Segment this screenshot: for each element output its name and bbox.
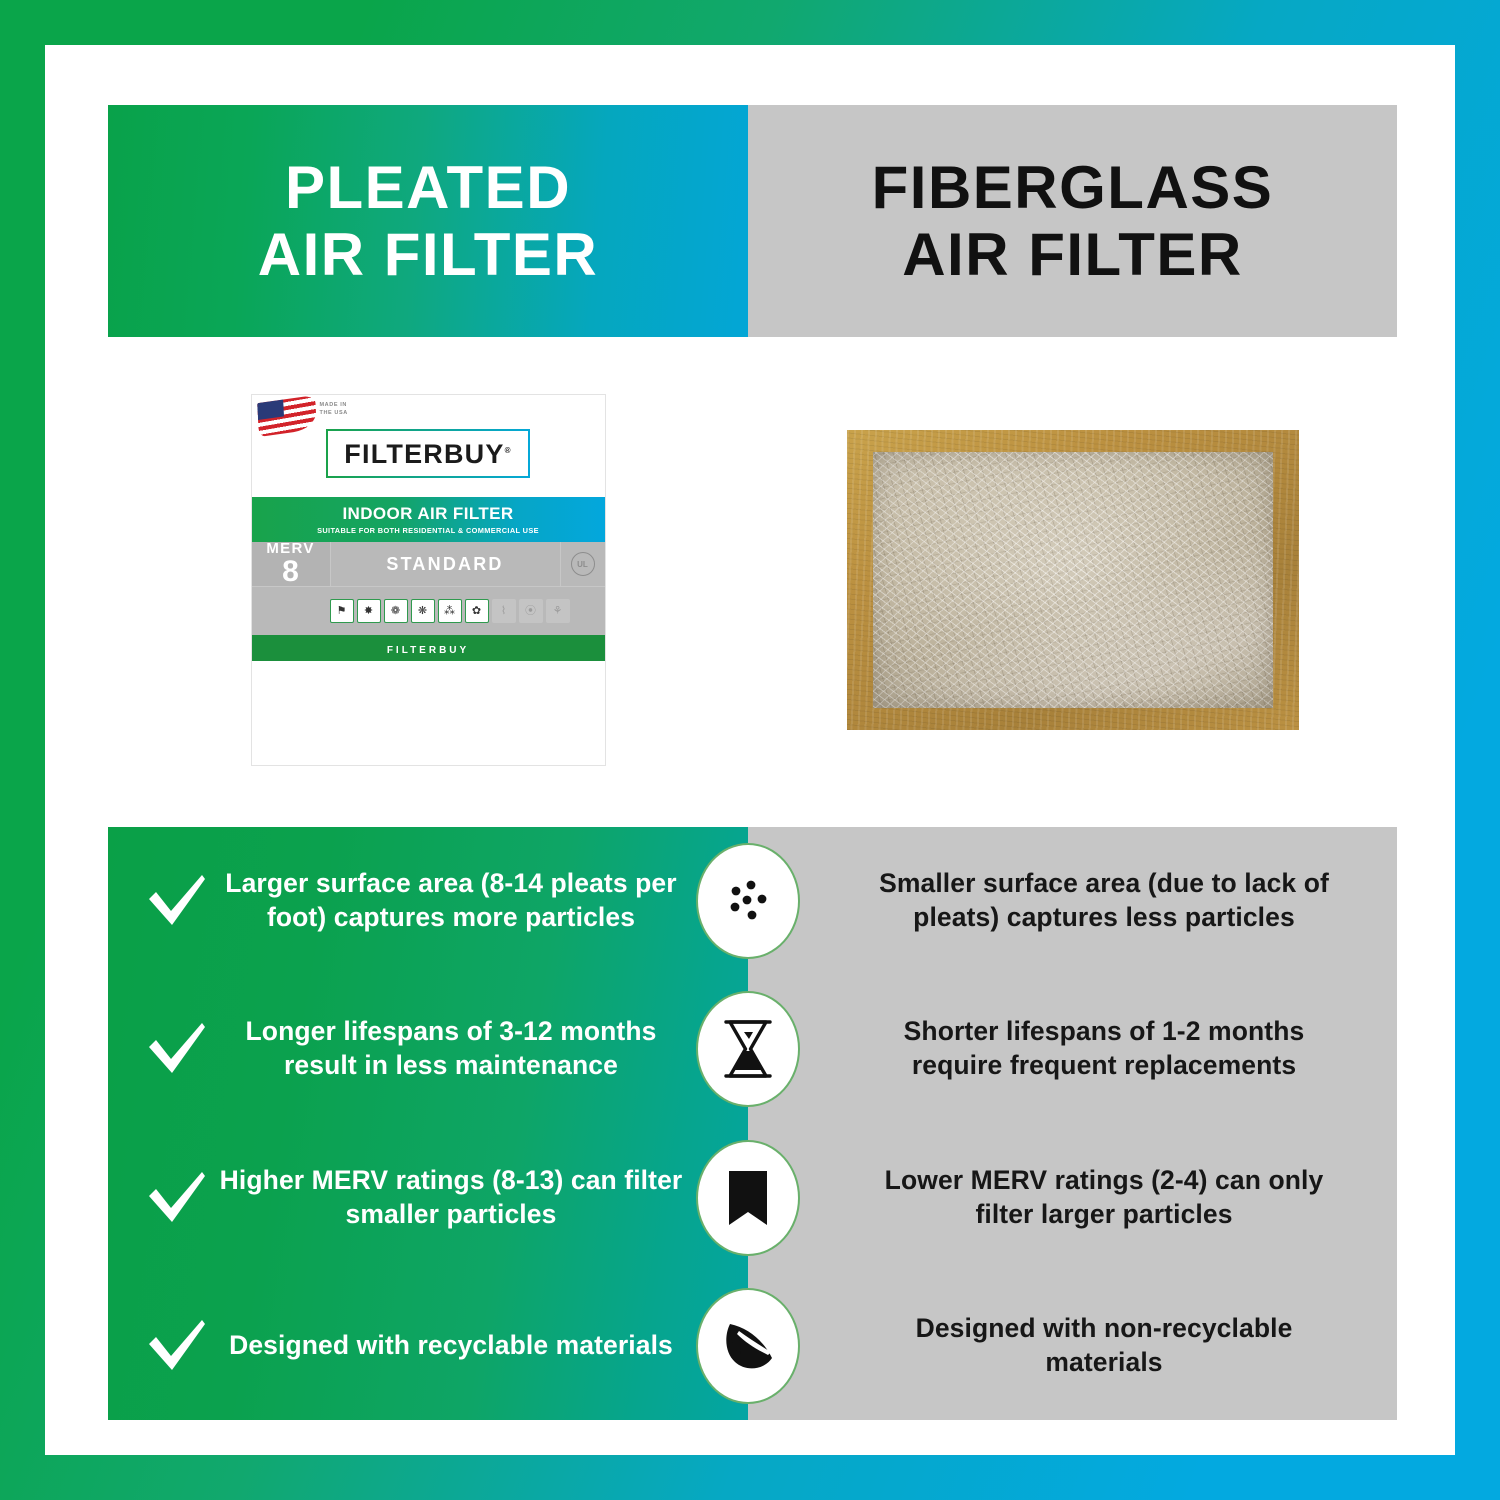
pet-dander-icon: ✿	[465, 599, 489, 623]
indoor-air-filter-label: INDOOR AIR FILTER	[342, 504, 513, 524]
checkmark-icon	[108, 1021, 216, 1077]
product-photo-strip: MADE IN THE USA FILTERBUY® INDOOR AIR FI…	[108, 345, 1397, 815]
comparison-row: Longer lifespans of 3-12 months result i…	[108, 975, 1397, 1123]
fiberglass-mesh-texture	[873, 452, 1273, 708]
fiberglass-photo-slot	[748, 345, 1397, 815]
comparison-cell-fiberglass: Smaller surface area (due to lack of ple…	[748, 867, 1397, 935]
header-band: PLEATED AIR FILTER FIBERGLASS AIR FILTER	[108, 105, 1397, 337]
leaf-eco-icon	[702, 1294, 794, 1398]
lint-icon: ⁂	[438, 599, 462, 623]
hourglass-icon	[702, 997, 794, 1101]
comparison-row: Larger surface area (8-14 pleats per foo…	[108, 827, 1397, 975]
dust-mites-icon: ✸	[357, 599, 381, 623]
comparison-cell-pleated: Higher MERV ratings (8-13) can filter sm…	[108, 1164, 748, 1232]
comparison-text-pleated: Higher MERV ratings (8-13) can filter sm…	[216, 1164, 686, 1232]
pleated-filter-box-image: MADE IN THE USA FILTERBUY® INDOOR AIR FI…	[252, 395, 605, 765]
comparison-text-pleated: Larger surface area (8-14 pleats per foo…	[216, 867, 686, 935]
comparison-text-fiberglass: Shorter lifespans of 1-2 months require …	[866, 1015, 1342, 1083]
dust-broom-icon: ⚑	[330, 599, 354, 623]
comparison-cell-fiberglass: Lower MERV ratings (2-4) can only filter…	[748, 1164, 1397, 1232]
comparison-text-pleated: Longer lifespans of 3-12 months result i…	[216, 1015, 686, 1083]
tier-label: STANDARD	[330, 542, 561, 586]
filterbuy-wordmark: FILTERBUY	[344, 439, 504, 469]
mold-icon: ❋	[411, 599, 435, 623]
virus-icon: ⚘	[546, 599, 570, 623]
comparison-cell-pleated: Longer lifespans of 3-12 months result i…	[108, 1015, 748, 1083]
box-gradient-band: INDOOR AIR FILTER SUITABLE FOR BOTH RESI…	[252, 497, 605, 542]
comparison-text-fiberglass: Smaller surface area (due to lack of ple…	[866, 867, 1342, 935]
filterbuy-logo-text: FILTERBUY®	[344, 439, 511, 470]
header-fiberglass-title: FIBERGLASS AIR FILTER	[872, 154, 1274, 288]
comparison-text-fiberglass: Designed with non-recyclable materials	[866, 1312, 1342, 1380]
feature-icon-row: ⚑✸❁❋⁂✿⌇⦿⚘	[252, 587, 605, 635]
suitable-use-label: SUITABLE FOR BOTH RESIDENTIAL & COMMERCI…	[317, 526, 539, 535]
fiberglass-filter-image	[847, 430, 1299, 730]
comparison-cell-fiberglass: Designed with non-recyclable materials	[748, 1312, 1397, 1380]
pollen-icon: ❁	[384, 599, 408, 623]
comparison-panel: Larger surface area (8-14 pleats per foo…	[108, 827, 1397, 1420]
ul-listed-icon: UL	[571, 552, 595, 576]
comparison-rows: Larger surface area (8-14 pleats per foo…	[108, 827, 1397, 1420]
pleated-photo-slot: MADE IN THE USA FILTERBUY® INDOOR AIR FI…	[108, 345, 748, 815]
comparison-row: Higher MERV ratings (8-13) can filter sm…	[108, 1124, 1397, 1272]
merv-value: 8	[282, 557, 299, 587]
checkmark-icon	[108, 873, 216, 929]
filterbuy-logo-frame: FILTERBUY®	[326, 429, 529, 478]
merv-label: MERV	[266, 541, 314, 556]
header-fiberglass: FIBERGLASS AIR FILTER	[748, 105, 1397, 337]
registered-mark: ®	[505, 446, 512, 455]
bacteria-icon: ⦿	[519, 599, 543, 623]
smoke-icon: ⌇	[492, 599, 516, 623]
merv-badge: MERV 8	[252, 542, 330, 586]
made-in-usa-label: MADE IN THE USA	[320, 402, 348, 417]
comparison-cell-pleated: Designed with recyclable materials	[108, 1318, 748, 1374]
box-spec-top-row: MERV 8 STANDARD UL	[252, 542, 605, 587]
header-pleated: PLEATED AIR FILTER	[108, 105, 748, 337]
comparison-text-fiberglass: Lower MERV ratings (2-4) can only filter…	[866, 1164, 1342, 1232]
infographic-frame: PLEATED AIR FILTER FIBERGLASS AIR FILTER…	[0, 0, 1500, 1500]
box-bottom-brand: FILTERBUY	[257, 639, 600, 661]
box-top-section: MADE IN THE USA FILTERBUY®	[252, 395, 605, 497]
particles-icon	[702, 849, 794, 953]
comparison-cell-fiberglass: Shorter lifespans of 1-2 months require …	[748, 1015, 1397, 1083]
checkmark-icon	[108, 1318, 216, 1374]
comparison-row: Designed with recyclable materialsDesign…	[108, 1272, 1397, 1420]
bookmark-icon	[702, 1146, 794, 1250]
box-pleat-window: FILTERBUY	[252, 635, 605, 661]
box-spec-section: MERV 8 STANDARD UL ⚑✸❁❋⁂✿⌇⦿⚘	[252, 542, 605, 635]
usa-flag-icon	[257, 395, 317, 437]
comparison-cell-pleated: Larger surface area (8-14 pleats per foo…	[108, 867, 748, 935]
comparison-text-pleated: Designed with recyclable materials	[216, 1329, 686, 1363]
ul-certification: UL	[561, 542, 605, 586]
infographic-canvas: PLEATED AIR FILTER FIBERGLASS AIR FILTER…	[45, 45, 1455, 1455]
header-pleated-title: PLEATED AIR FILTER	[258, 154, 599, 288]
checkmark-icon	[108, 1170, 216, 1226]
